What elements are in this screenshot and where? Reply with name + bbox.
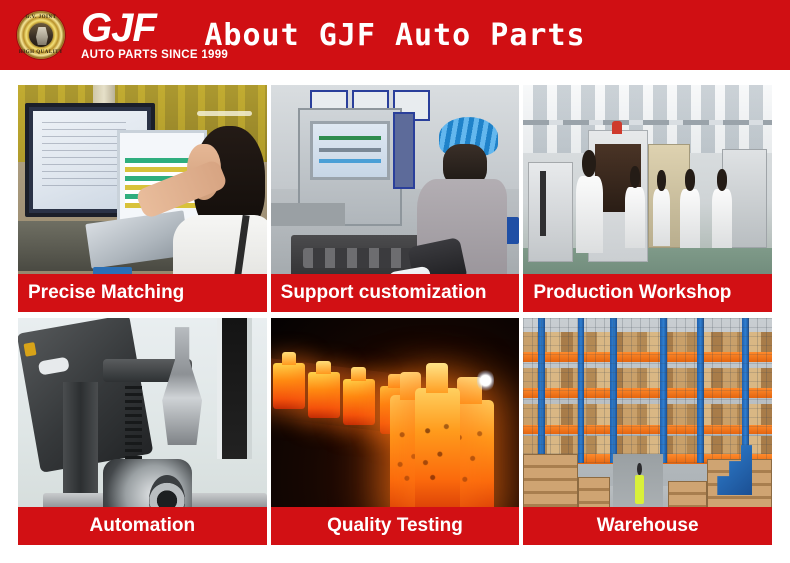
brand-logo[interactable]: G.V. JOINT HIGH QUALITY GJF AUTO PARTS S… xyxy=(0,9,228,61)
side-panel xyxy=(393,112,415,189)
feature-grid: Precise Matching xyxy=(18,85,772,545)
tile-precise-matching[interactable]: Precise Matching xyxy=(18,85,267,312)
machine-display xyxy=(310,121,390,180)
worker-figure xyxy=(625,187,645,248)
brand-tagline: AUTO PARTS SINCE 1999 xyxy=(81,49,228,61)
hot-billet-large xyxy=(415,388,460,515)
workshop-roof xyxy=(523,85,772,153)
warehouse-worker xyxy=(635,475,643,505)
seal-bottom-text: HIGH QUALITY xyxy=(17,50,65,55)
safety-mesh xyxy=(523,318,772,463)
caption-production-workshop: Production Workshop xyxy=(523,274,772,312)
cad-drawing xyxy=(42,122,127,192)
side-bench xyxy=(271,203,346,226)
label-plate xyxy=(38,356,70,375)
tile-warehouse[interactable]: Warehouse xyxy=(523,318,772,545)
brand-name: GJF xyxy=(81,9,228,47)
worker-figure xyxy=(712,189,732,248)
about-page: G.V. JOINT HIGH QUALITY GJF AUTO PARTS S… xyxy=(0,0,790,563)
cv-joint-part xyxy=(162,327,202,445)
worker-figure xyxy=(680,189,700,248)
caption-warehouse: Warehouse xyxy=(523,507,772,545)
display-row xyxy=(319,159,381,163)
brand-wordmark: GJF AUTO PARTS SINCE 1999 xyxy=(81,9,228,61)
tile-automation[interactable]: Automation xyxy=(18,318,267,545)
material-cart xyxy=(528,162,573,262)
worker-figure xyxy=(653,189,670,246)
doorway xyxy=(217,318,252,459)
caption-support-customization: Support customization xyxy=(271,274,520,312)
page-header: G.V. JOINT HIGH QUALITY GJF AUTO PARTS S… xyxy=(0,0,790,70)
hot-billet xyxy=(273,363,305,408)
tile-quality-testing[interactable]: Quality Testing xyxy=(271,318,520,545)
signal-lamp xyxy=(612,121,622,134)
caption-automation: Automation xyxy=(18,507,267,545)
seal-core-icon xyxy=(28,22,54,48)
display-row xyxy=(319,148,381,152)
caption-precise-matching: Precise Matching xyxy=(18,274,267,312)
quality-seal-icon: G.V. JOINT HIGH QUALITY xyxy=(17,11,65,59)
indicator-light xyxy=(23,342,36,356)
worker-figure xyxy=(576,176,603,253)
tile-support-customization[interactable]: Support customization xyxy=(271,85,520,312)
hot-billet xyxy=(308,372,340,417)
display-row xyxy=(319,136,381,140)
light-flare xyxy=(477,368,494,393)
caption-quality-testing: Quality Testing xyxy=(271,507,520,545)
tile-production-workshop[interactable]: Production Workshop xyxy=(523,85,772,312)
seal-top-text: G.V. JOINT xyxy=(17,15,65,20)
hot-billet xyxy=(343,379,375,424)
